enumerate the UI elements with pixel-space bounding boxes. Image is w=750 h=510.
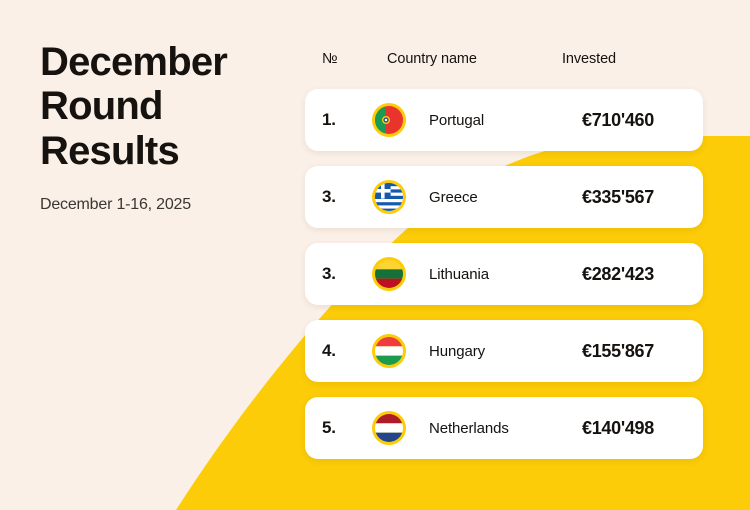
page-title: December Round Results: [40, 40, 285, 173]
invested-amount: €282'423: [578, 264, 703, 285]
country-name: Lithuania: [416, 266, 578, 283]
invested-amount: €140'498: [578, 418, 703, 439]
country-name: Netherlands: [416, 420, 578, 437]
table-row[interactable]: 5. Netherlands €140'498: [305, 397, 703, 459]
column-header-country: Country name: [362, 51, 558, 67]
country-name: Greece: [416, 189, 578, 206]
country-name: Hungary: [416, 343, 578, 360]
rank-value: 3.: [305, 187, 362, 207]
invested-amount: €710'460: [578, 110, 703, 131]
rank-value: 3.: [305, 264, 362, 284]
rank-value: 5.: [305, 418, 362, 438]
column-header-rank: №: [305, 51, 362, 67]
flag-hungary-icon: [362, 333, 416, 369]
table-row[interactable]: 4. Hungary €155'867: [305, 320, 703, 382]
flag-portugal-icon: [362, 102, 416, 138]
table-row[interactable]: 1. Portugal €710'460: [305, 89, 703, 151]
column-header-invested: Invested: [558, 51, 687, 67]
table-row[interactable]: 3. Lithuania €282'423: [305, 243, 703, 305]
table-header-row: № Country name Invested: [305, 40, 703, 78]
results-table: № Country name Invested 1.: [305, 40, 703, 459]
rank-value: 1.: [305, 110, 362, 130]
title-block: December Round Results December 1-16, 20…: [40, 40, 285, 216]
invested-amount: €335'567: [578, 187, 703, 208]
table-body: 1. Portugal €710'460: [305, 89, 703, 459]
invested-amount: €155'867: [578, 341, 703, 362]
rank-value: 4.: [305, 341, 362, 361]
page-subtitle: December 1-16, 2025: [40, 195, 285, 216]
flag-greece-icon: [362, 179, 416, 215]
poster-canvas: December Round Results December 1-16, 20…: [0, 0, 750, 510]
table-row[interactable]: 3.: [305, 166, 703, 228]
flag-netherlands-icon: [362, 410, 416, 446]
country-name: Portugal: [416, 112, 578, 129]
flag-lithuania-icon: [362, 256, 416, 292]
